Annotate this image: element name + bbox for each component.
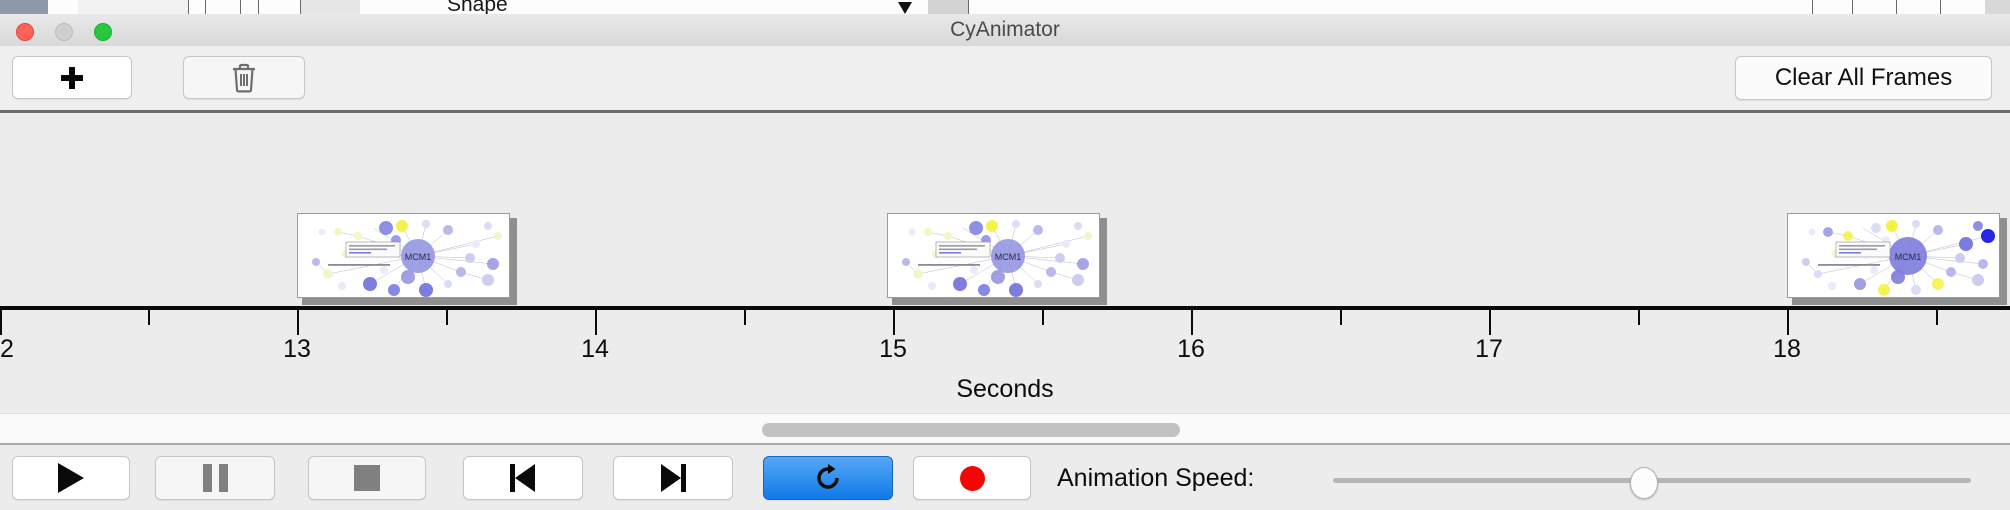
- svg-text:MCM1: MCM1: [995, 252, 1022, 262]
- axis-tick-major: [1489, 310, 1491, 335]
- skip-to-start-button[interactable]: [463, 456, 583, 500]
- pause-icon: [203, 464, 228, 492]
- axis-tick-label: 14: [581, 335, 609, 364]
- timeline-scrollbar[interactable]: [0, 413, 2010, 445]
- frame-network-preview: MCM1: [887, 213, 1100, 298]
- animation-speed-slider-thumb[interactable]: [1630, 467, 1658, 499]
- trash-icon: [231, 63, 257, 93]
- svg-text:MCM1: MCM1: [405, 252, 432, 262]
- pause-button[interactable]: [155, 456, 275, 500]
- axis-tick-minor: [1340, 310, 1342, 325]
- axis-tick-minor: [1042, 310, 1044, 325]
- timeline-frame-thumbnail[interactable]: MCM1: [297, 213, 517, 305]
- axis-tick-label: 13: [283, 335, 311, 364]
- axis-tick-label: 12: [0, 335, 14, 364]
- axis-tick-label: 15: [879, 335, 907, 364]
- axis-tick-major: [893, 310, 895, 335]
- axis-tick-label: 16: [1177, 335, 1205, 364]
- skip-to-end-icon: [658, 464, 688, 492]
- axis-tick-minor: [148, 310, 150, 325]
- cyanimator-window: Shape CyAnimator Clear All Frames: [0, 0, 2010, 510]
- stop-button[interactable]: [308, 456, 426, 500]
- timeline-axis: [0, 306, 2010, 310]
- add-frame-button[interactable]: [12, 56, 132, 99]
- timeline-panel[interactable]: MCM1: [0, 113, 2010, 413]
- axis-tick-minor: [446, 310, 448, 325]
- clear-all-frames-button[interactable]: Clear All Frames: [1735, 56, 1992, 100]
- clear-all-frames-label: Clear All Frames: [1775, 64, 1952, 92]
- svg-text:MCM1: MCM1: [1895, 252, 1922, 262]
- axis-tick-major: [297, 310, 299, 335]
- frame-network-preview: MCM1: [297, 213, 510, 298]
- axis-tick-minor: [1936, 310, 1938, 325]
- record-button[interactable]: [913, 456, 1031, 500]
- axis-tick-label: 17: [1475, 335, 1503, 364]
- axis-tick-minor: [1638, 310, 1640, 325]
- animation-speed-label: Animation Speed:: [1057, 456, 1254, 500]
- background-window-strip: Shape: [0, 0, 2010, 15]
- loop-icon: [813, 463, 843, 493]
- timeline-frame-thumbnail[interactable]: MCM1: [887, 213, 1107, 305]
- stop-icon: [354, 465, 380, 491]
- axis-tick-label: 18: [1773, 335, 1801, 364]
- skip-to-start-icon: [508, 464, 538, 492]
- delete-frame-button[interactable]: [183, 56, 305, 99]
- timeline-frame-thumbnail[interactable]: MCM1: [1787, 213, 2007, 305]
- skip-to-end-button[interactable]: [613, 456, 733, 500]
- axis-tick-minor: [744, 310, 746, 325]
- background-window-label: Shape: [447, 0, 508, 15]
- window-title: CyAnimator: [0, 14, 2010, 46]
- axis-tick-major: [1787, 310, 1789, 335]
- play-icon: [58, 463, 84, 493]
- scrollbar-thumb[interactable]: [762, 423, 1180, 437]
- loop-button[interactable]: [763, 456, 893, 500]
- axis-tick-major: [1191, 310, 1193, 335]
- toolbar: Clear All Frames: [0, 46, 2010, 111]
- plus-icon: [61, 67, 83, 89]
- play-button[interactable]: [12, 456, 130, 500]
- title-bar: CyAnimator: [0, 14, 2010, 47]
- frame-network-preview: MCM1: [1787, 213, 2000, 298]
- axis-title: Seconds: [0, 375, 2010, 404]
- axis-tick-major: [0, 310, 2, 335]
- record-icon: [960, 466, 985, 491]
- axis-tick-major: [595, 310, 597, 335]
